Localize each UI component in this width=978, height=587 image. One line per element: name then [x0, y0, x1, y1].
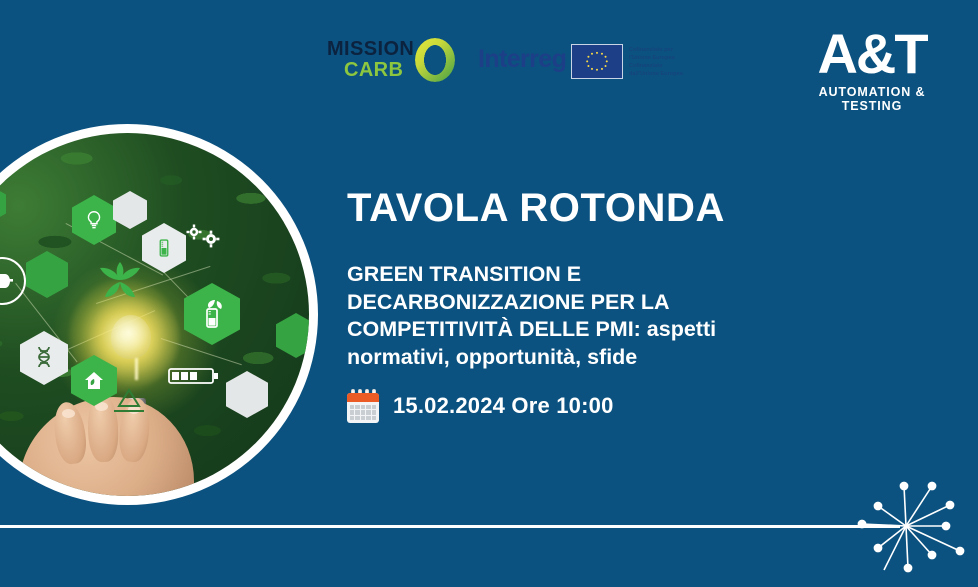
starburst-network-graphic	[840, 458, 976, 587]
eu-funding-line-4: dall'Unione Europea	[629, 70, 695, 78]
a-and-t-tagline: AUTOMATION & TESTING	[797, 85, 947, 113]
missioncarb0-zero-ring	[415, 38, 455, 82]
event-datetime: 15.02.2024 Ore 10:00	[345, 388, 614, 424]
a-and-t-mark: A&T	[797, 28, 947, 80]
fingernail	[62, 409, 75, 418]
leaf-icon	[89, 258, 151, 307]
eu-funding-logo: Cofinanziato per l'Unione Europea Cofina…	[571, 44, 695, 79]
gears-icon	[182, 223, 224, 258]
hero-photo-circle	[0, 124, 318, 505]
eu-funding-text: Cofinanziato per l'Unione Europea Cofina…	[629, 44, 695, 78]
eu-funding-line-2: l'Unione Europea	[629, 54, 695, 62]
logo-strip: MISSION CARB Interreg	[0, 0, 978, 120]
page-title: TAVOLA ROTONDA	[347, 188, 725, 228]
missioncarb0-logo: MISSION CARB	[327, 38, 457, 83]
eu-funding-line-3: Cofinanziato	[629, 62, 695, 70]
bulb-glass	[111, 315, 151, 359]
page-subtitle: GREEN TRANSITION E DECARBONIZZAZIONE PER…	[347, 261, 827, 372]
subtitle-line-3: COMPETITIVITÀ DELLE PMI: aspetti	[347, 316, 827, 344]
eu-stars-icon	[572, 45, 622, 79]
subtitle-line-2: DECARBONIZZAZIONE PER LA	[347, 289, 827, 317]
battery-icon	[168, 365, 220, 392]
calendar-grid	[350, 405, 376, 420]
eu-funding-line-1: Cofinanziato per	[629, 46, 695, 54]
hero-photo	[0, 133, 309, 496]
missioncarb0-line1: MISSION	[327, 39, 414, 59]
subtitle-line-4: normativi, opportunità, sfide	[347, 344, 827, 372]
calendar-icon	[345, 388, 381, 424]
a-and-t-logo: A&T AUTOMATION & TESTING	[797, 28, 947, 113]
event-banner: MISSION CARB Interreg	[0, 0, 978, 587]
calendar-header	[347, 393, 379, 402]
subtitle-line-1: GREEN TRANSITION E	[347, 261, 827, 289]
eu-flag-icon	[571, 44, 623, 79]
recycle-icon	[106, 385, 152, 426]
bulb-filament	[135, 358, 138, 380]
missioncarb0-line2: CARB	[344, 60, 403, 80]
horizontal-divider	[0, 525, 900, 528]
event-datetime-text: 15.02.2024 Ore 10:00	[393, 393, 614, 419]
interreg-logo: Interreg	[478, 47, 566, 72]
